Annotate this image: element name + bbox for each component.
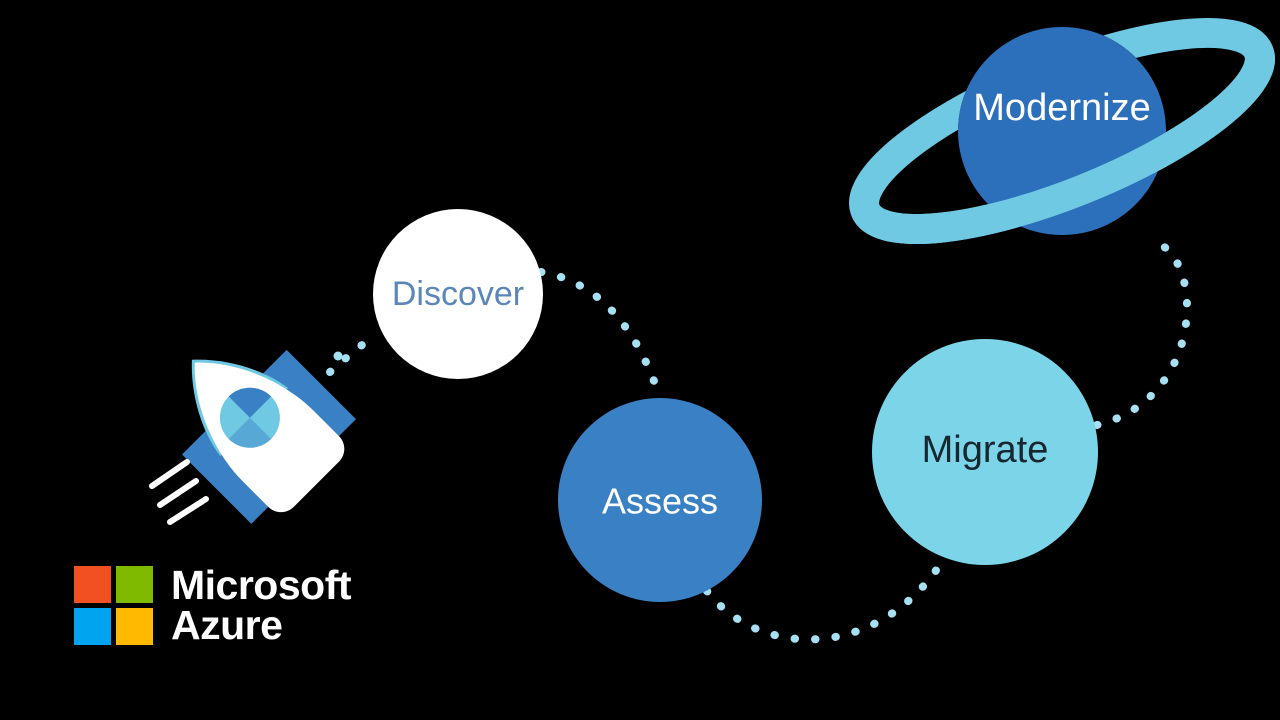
node-migrate[interactable]: Migrate [872, 339, 1098, 565]
logo-square-green [116, 566, 153, 603]
modernize-label: Modernize [973, 87, 1150, 129]
slide-canvas: Discover Assess Migrate Modernize [0, 0, 1280, 720]
brand-line-microsoft: Microsoft [171, 565, 351, 605]
microsoft-azure-logo: Microsoft Azure [74, 565, 351, 645]
spark-dot [334, 352, 343, 361]
discover-label: Discover [392, 275, 524, 313]
assess-label: Assess [602, 481, 718, 522]
logo-square-red [74, 566, 111, 603]
brand-line-azure: Azure [171, 605, 351, 645]
migrate-label: Migrate [922, 429, 1049, 471]
logo-square-blue [74, 608, 111, 645]
logo-square-yellow [116, 608, 153, 645]
node-discover[interactable]: Discover [373, 209, 543, 379]
node-assess[interactable]: Assess [558, 398, 762, 602]
brand-wordmark: Microsoft Azure [171, 565, 351, 645]
microsoft-logo-icon [74, 566, 153, 645]
